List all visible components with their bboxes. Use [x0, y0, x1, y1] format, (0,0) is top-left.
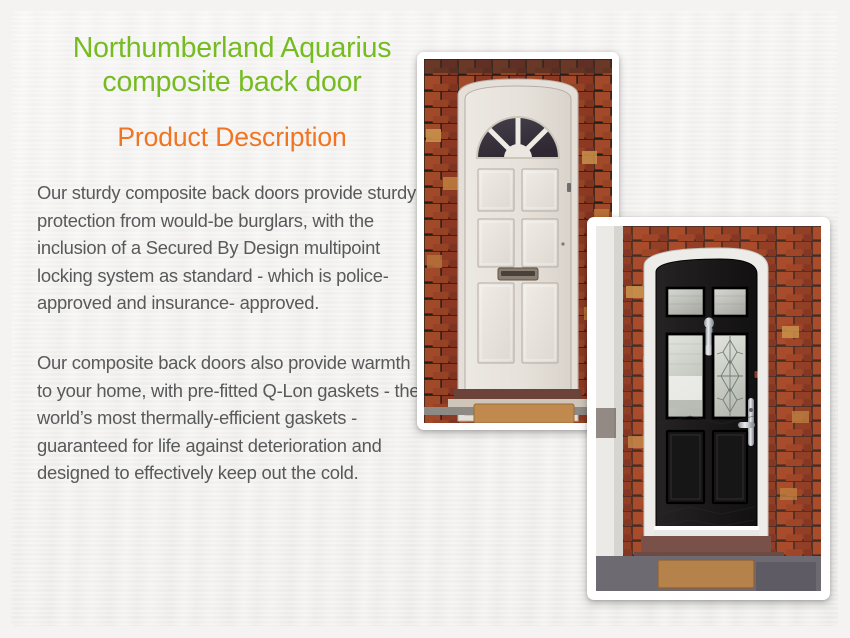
page-title: Northumberland Aquarius composite back d…: [37, 31, 427, 99]
slide-frame: Northumberland Aquarius composite back d…: [0, 0, 850, 638]
photo-black-door-image: [596, 226, 821, 591]
photo-white-door-image: [424, 59, 612, 423]
description-paragraph-2: Our composite back doors also provide wa…: [37, 349, 427, 487]
slide-canvas: Northumberland Aquarius composite back d…: [11, 11, 838, 626]
white-door-illustration: [424, 59, 612, 423]
black-door-illustration: [596, 226, 821, 591]
photo-black-composite-back-door: [587, 217, 830, 600]
description-paragraph-1: Our sturdy composite back doors provide …: [37, 179, 427, 317]
page-title-line-2: composite back door: [37, 65, 427, 99]
page-title-line-1: Northumberland Aquarius: [73, 32, 392, 64]
section-subtitle: Product Description: [37, 121, 427, 153]
text-column: Northumberland Aquarius composite back d…: [37, 31, 427, 505]
